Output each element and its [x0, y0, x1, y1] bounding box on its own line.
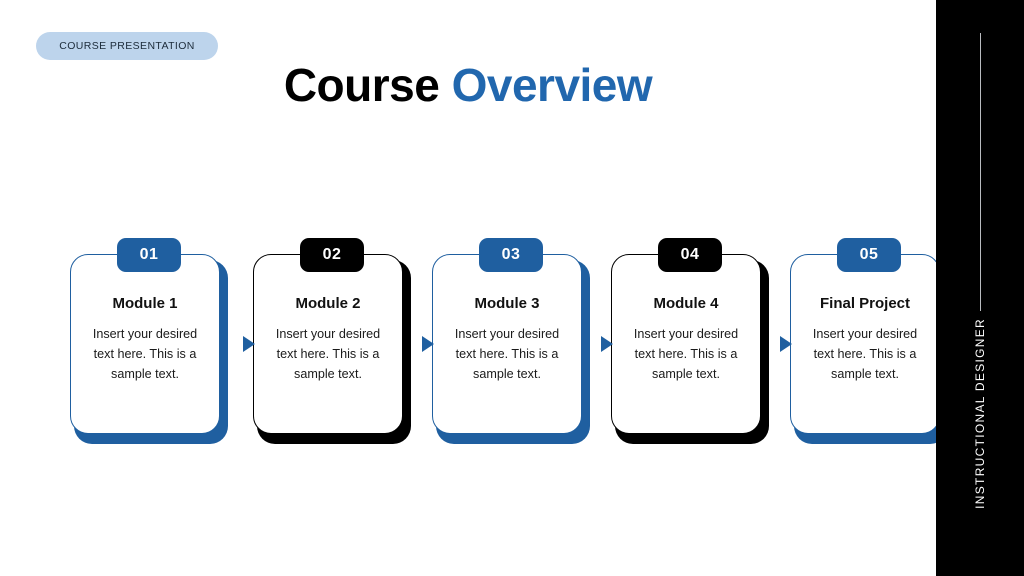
card-text-1: Insert your desired text here. This is a…	[89, 324, 201, 384]
page-title-part-two: Overview	[452, 59, 653, 111]
module-card-3[interactable]: Module 3 Insert your desired text here. …	[432, 238, 590, 444]
arrow-right-icon-1	[243, 336, 255, 352]
card-number-label-3: 03	[502, 246, 521, 264]
page-title-part-one: Course	[284, 59, 439, 111]
card-number-label-5: 05	[860, 246, 879, 264]
arrow-right-icon-2	[422, 336, 434, 352]
card-title-4: Module 4	[653, 295, 718, 313]
card-number-tab-5: 05	[837, 238, 901, 272]
right-sidebar: INSTRUCTIONAL DESIGNER	[936, 0, 1024, 576]
page-title: Course Overview	[0, 55, 936, 115]
card-body-2: Module 2 Insert your desired text here. …	[253, 254, 403, 434]
card-body-4: Module 4 Insert your desired text here. …	[611, 254, 761, 434]
slide-canvas: COURSE PRESENTATION Course Overview Modu…	[0, 0, 1024, 576]
card-body-1: Module 1 Insert your desired text here. …	[70, 254, 220, 434]
card-text-4: Insert your desired text here. This is a…	[630, 324, 742, 384]
status-badge-label: COURSE PRESENTATION	[59, 40, 195, 52]
module-card-row: Module 1 Insert your desired text here. …	[70, 238, 960, 448]
card-number-tab-4: 04	[658, 238, 722, 272]
module-card-5[interactable]: Final Project Insert your desired text h…	[790, 238, 948, 444]
card-text-3: Insert your desired text here. This is a…	[451, 324, 563, 384]
card-number-label-2: 02	[323, 246, 342, 264]
card-body-3: Module 3 Insert your desired text here. …	[432, 254, 582, 434]
arrow-right-icon-4	[780, 336, 792, 352]
card-body-5: Final Project Insert your desired text h…	[790, 254, 940, 434]
module-card-2[interactable]: Module 2 Insert your desired text here. …	[253, 238, 411, 444]
card-title-3: Module 3	[474, 295, 539, 313]
card-text-2: Insert your desired text here. This is a…	[272, 324, 384, 384]
card-number-label-4: 04	[681, 246, 700, 264]
card-title-1: Module 1	[112, 295, 177, 313]
sidebar-divider-line	[980, 33, 981, 311]
card-number-tab-3: 03	[479, 238, 543, 272]
module-card-1[interactable]: Module 1 Insert your desired text here. …	[70, 238, 228, 444]
module-card-4[interactable]: Module 4 Insert your desired text here. …	[611, 238, 769, 444]
card-text-5: Insert your desired text here. This is a…	[809, 324, 921, 384]
card-number-tab-2: 02	[300, 238, 364, 272]
card-number-tab-1: 01	[117, 238, 181, 272]
arrow-right-icon-3	[601, 336, 613, 352]
sidebar-vertical-label: INSTRUCTIONAL DESIGNER	[936, 318, 1024, 548]
card-title-2: Module 2	[295, 295, 360, 313]
card-number-label-1: 01	[140, 246, 159, 264]
card-title-5: Final Project	[820, 295, 910, 313]
sidebar-label-text: INSTRUCTIONAL DESIGNER	[973, 318, 987, 509]
